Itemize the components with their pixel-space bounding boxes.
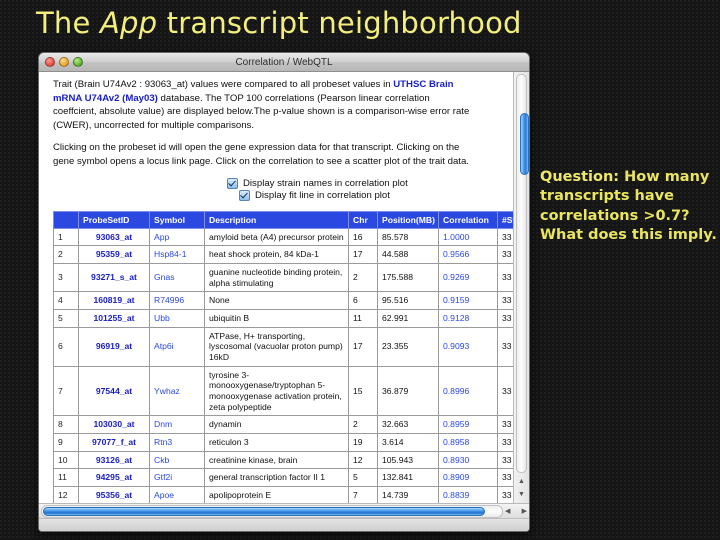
title-part-after: transcript neighborhood <box>157 6 521 40</box>
cell-description: general transcription factor II 1 <box>205 469 349 487</box>
cell-symbol: Gtf2i <box>150 469 205 487</box>
cell-probesetid: 93271_s_at <box>79 263 150 291</box>
cell-strains: 33 <box>498 327 514 366</box>
table-row: 8103030_atDnmdynamin232.6630.8959332.00e… <box>54 416 514 434</box>
probeset-link[interactable]: 97077_f_at <box>92 437 136 447</box>
cell-chr: 2 <box>349 416 378 434</box>
cell-strains: 33 <box>498 246 514 264</box>
intro-text-a: Trait (Brain U74Av2 : 93063_at) values w… <box>53 79 393 90</box>
cell-strains: 33 <box>498 486 514 503</box>
table-row: 295359_atHsp84-1heat shock protein, 84 k… <box>54 246 514 264</box>
checkbox-checked-icon[interactable] <box>227 178 238 189</box>
window-controls <box>45 57 83 67</box>
display-options: Display strain names in correlation plot… <box>53 178 503 201</box>
page-content: Trait (Brain U74Av2 : 93063_at) values w… <box>39 72 513 503</box>
table-row: 1194295_atGtf2igeneral transcription fac… <box>54 469 514 487</box>
cell-description: ATPase, H+ transporting, lyscosomal (vac… <box>205 327 349 366</box>
column-header-position[interactable]: Position(MB) <box>378 211 439 228</box>
cell-chr: 15 <box>349 366 378 416</box>
table-row: 193063_atAppamyloid beta (A4) precursor … <box>54 228 514 246</box>
cell-correlation: 0.8959 <box>439 416 498 434</box>
cell-probesetid: 94295_at <box>79 469 150 487</box>
cell-index: 9 <box>54 433 79 451</box>
intro-paragraph: Trait (Brain U74Av2 : 93063_at) values w… <box>53 78 473 132</box>
close-icon[interactable] <box>45 57 55 67</box>
cell-position: 3.614 <box>378 433 439 451</box>
browser-window: Correlation / WebQTL Trait (Brain U74Av2… <box>38 52 530 532</box>
cell-strains: 33 <box>498 416 514 434</box>
table-header-row: ProbeSetID Symbol Description Chr Positi… <box>54 211 514 228</box>
symbol-link[interactable]: Ckb <box>154 455 169 465</box>
cell-probesetid: 97544_at <box>79 366 150 416</box>
vertical-scroll-thumb[interactable] <box>520 113 529 175</box>
scroll-down-icon[interactable]: ▼ <box>518 491 525 498</box>
probeset-link[interactable]: 94295_at <box>96 472 132 482</box>
cell-strains: 33 <box>498 451 514 469</box>
cell-correlation: 0.8958 <box>439 433 498 451</box>
cell-position: 62.991 <box>378 309 439 327</box>
symbol-link[interactable]: Dnm <box>154 419 172 429</box>
cell-strains: 33 <box>498 228 514 246</box>
cell-correlation: 0.9093 <box>439 327 498 366</box>
question-callout: Question: How many transcripts have corr… <box>540 168 718 245</box>
probeset-link[interactable]: 101255_at <box>93 313 134 323</box>
symbol-link[interactable]: Ywhaz <box>154 386 180 396</box>
cell-index: 8 <box>54 416 79 434</box>
table-body: 193063_atAppamyloid beta (A4) precursor … <box>54 228 514 503</box>
question-label: Question: <box>540 169 619 185</box>
cell-position: 95.516 <box>378 292 439 310</box>
cell-probesetid: 160819_at <box>79 292 150 310</box>
checkbox-strain-names[interactable]: Display strain names in correlation plot <box>227 178 503 189</box>
cell-description: creatinine kinase, brain <box>205 451 349 469</box>
cell-position: 105.943 <box>378 451 439 469</box>
column-header-description[interactable]: Description <box>205 211 349 228</box>
cell-description: None <box>205 292 349 310</box>
horizontal-scroll-buttons: ◀ ▶ <box>505 507 527 515</box>
cell-index: 10 <box>54 451 79 469</box>
correlation-link[interactable]: 0.8930 <box>443 455 469 465</box>
cell-description: reticulon 3 <box>205 433 349 451</box>
cell-correlation: 0.9128 <box>439 309 498 327</box>
cell-description: heat shock protein, 84 kDa-1 <box>205 246 349 264</box>
scroll-left-icon[interactable]: ◀ <box>505 507 510 515</box>
symbol-link[interactable]: Apoe <box>154 490 174 500</box>
cell-strains: 33 <box>498 309 514 327</box>
cell-index: 7 <box>54 366 79 416</box>
cell-chr: 7 <box>349 486 378 503</box>
column-header-chr[interactable]: Chr <box>349 211 378 228</box>
cell-symbol: Ckb <box>150 451 205 469</box>
correlation-link[interactable]: 0.9269 <box>443 272 469 282</box>
cell-position: 85.578 <box>378 228 439 246</box>
vertical-scroll-buttons: ▲ ▼ <box>515 475 528 501</box>
cell-position: 14.739 <box>378 486 439 503</box>
symbol-link[interactable]: Gnas <box>154 272 175 282</box>
correlation-link[interactable]: 0.8909 <box>443 472 469 482</box>
correlation-link[interactable]: 0.8958 <box>443 437 469 447</box>
window-footer <box>39 518 529 531</box>
cell-probesetid: 95356_at <box>79 486 150 503</box>
cell-symbol: Apoe <box>150 486 205 503</box>
cell-correlation: 1.0000 <box>439 228 498 246</box>
cell-correlation: 0.9159 <box>439 292 498 310</box>
cell-index: 2 <box>54 246 79 264</box>
cell-description: amyloid beta (A4) precursor protein <box>205 228 349 246</box>
symbol-link[interactable]: Hsp84-1 <box>154 249 186 259</box>
column-header-strains[interactable]: #Strains <box>498 211 514 228</box>
horizontal-scroll-thumb[interactable] <box>43 507 485 516</box>
cell-chr: 16 <box>349 228 378 246</box>
cell-correlation: 0.9566 <box>439 246 498 264</box>
probeset-link[interactable]: 95359_at <box>96 249 132 259</box>
cell-description: ubiquitin B <box>205 309 349 327</box>
cell-symbol: R74996 <box>150 292 205 310</box>
table-row: 5101255_atUbbubiquitin B1162.9910.912833… <box>54 309 514 327</box>
page-title: The App transcript neighborhood <box>36 6 596 40</box>
cell-symbol: Ubb <box>150 309 205 327</box>
zoom-icon[interactable] <box>73 57 83 67</box>
cell-chr: 19 <box>349 433 378 451</box>
cell-symbol: Gnas <box>150 263 205 291</box>
cell-index: 12 <box>54 486 79 503</box>
table-row: 393271_s_atGnasguanine nucleotide bindin… <box>54 263 514 291</box>
cell-symbol: Ywhaz <box>150 366 205 416</box>
probeset-link[interactable]: 93271_s_at <box>91 272 137 282</box>
cell-symbol: Rtn3 <box>150 433 205 451</box>
cell-chr: 17 <box>349 327 378 366</box>
correlation-link[interactable]: 0.9128 <box>443 313 469 323</box>
cell-chr: 17 <box>349 246 378 264</box>
cell-strains: 33 <box>498 469 514 487</box>
cell-index: 11 <box>54 469 79 487</box>
symbol-link[interactable]: R74996 <box>154 295 184 305</box>
vertical-scrollbar[interactable]: ▲ ▼ <box>513 72 529 503</box>
table-row: 4160819_atR74996None695.5160.9159330.00e… <box>54 292 514 310</box>
table-row: 997077_f_atRtn3reticulon 3193.6140.89583… <box>54 433 514 451</box>
scroll-up-icon[interactable]: ▲ <box>518 478 525 485</box>
cell-description: guanine nucleotide binding protein, alph… <box>205 263 349 291</box>
cell-strains: 33 <box>498 292 514 310</box>
checkbox-strain-names-label: Display strain names in correlation plot <box>243 178 408 189</box>
window-body: Trait (Brain U74Av2 : 93063_at) values w… <box>39 72 529 531</box>
cell-probesetid: 103030_at <box>79 416 150 434</box>
cell-probesetid: 93126_at <box>79 451 150 469</box>
cell-position: 32.663 <box>378 416 439 434</box>
cell-correlation: 0.8909 <box>439 469 498 487</box>
cell-position: 36.879 <box>378 366 439 416</box>
symbol-link[interactable]: Ubb <box>154 313 170 323</box>
horizontal-scroll-track[interactable] <box>41 505 503 518</box>
cell-correlation: 0.8996 <box>439 366 498 416</box>
table-row: 1295356_atApoeapolipoprotein E714.7390.8… <box>54 486 514 503</box>
probeset-link[interactable]: 160819_at <box>93 295 134 305</box>
checkbox-fit-line[interactable]: Display fit line in correlation plot <box>239 190 503 201</box>
table-header: ProbeSetID Symbol Description Chr Positi… <box>54 211 514 228</box>
symbol-link[interactable]: Atp6i <box>154 341 174 351</box>
cell-strains: 33 <box>498 263 514 291</box>
correlation-link[interactable]: 0.9159 <box>443 295 469 305</box>
probeset-link[interactable]: 96919_at <box>96 341 132 351</box>
cell-strains: 33 <box>498 366 514 416</box>
cell-chr: 2 <box>349 263 378 291</box>
column-header-index[interactable] <box>54 211 79 228</box>
cell-chr: 5 <box>349 469 378 487</box>
scroll-right-icon[interactable]: ▶ <box>522 507 527 515</box>
cell-probesetid: 95359_at <box>79 246 150 264</box>
probeset-link[interactable]: 93063_at <box>96 232 132 242</box>
window-titlebar[interactable]: Correlation / WebQTL <box>39 53 529 72</box>
symbol-link[interactable]: Gtf2i <box>154 472 172 482</box>
correlation-link[interactable]: 0.8959 <box>443 419 469 429</box>
cell-position: 175.588 <box>378 263 439 291</box>
cell-description: dynamin <box>205 416 349 434</box>
cell-index: 5 <box>54 309 79 327</box>
cell-chr: 6 <box>349 292 378 310</box>
window-title: Correlation / WebQTL <box>39 57 529 68</box>
cell-symbol: Atp6i <box>150 327 205 366</box>
cell-symbol: Hsp84-1 <box>150 246 205 264</box>
minimize-icon[interactable] <box>59 57 69 67</box>
cell-probesetid: 97077_f_at <box>79 433 150 451</box>
correlation-link[interactable]: 0.9093 <box>443 341 469 351</box>
title-gene-name: App <box>100 6 157 40</box>
title-part-before: The <box>36 6 100 40</box>
cell-index: 6 <box>54 327 79 366</box>
instructions-paragraph: Clicking on the probeset id will open th… <box>53 141 473 168</box>
cell-position: 132.841 <box>378 469 439 487</box>
checkbox-fit-line-label: Display fit line in correlation plot <box>255 190 390 201</box>
table-row: 797544_atYwhaztyrosine 3-monooxygenase/t… <box>54 366 514 416</box>
vertical-scroll-track[interactable] <box>516 74 527 473</box>
correlation-link[interactable]: 0.8839 <box>443 490 469 500</box>
table-row: 1093126_atCkbcreatinine kinase, brain121… <box>54 451 514 469</box>
column-header-symbol[interactable]: Symbol <box>150 211 205 228</box>
correlation-link[interactable]: 1.0000 <box>443 232 469 242</box>
probeset-link[interactable]: 93126_at <box>96 455 132 465</box>
cell-probesetid: 96919_at <box>79 327 150 366</box>
cell-symbol: Dnm <box>150 416 205 434</box>
table-row: 696919_atAtp6iATPase, H+ transporting, l… <box>54 327 514 366</box>
cell-symbol: App <box>150 228 205 246</box>
cell-correlation: 0.8839 <box>439 486 498 503</box>
probeset-link[interactable]: 103030_at <box>93 419 134 429</box>
cell-description: apolipoprotein E <box>205 486 349 503</box>
cell-correlation: 0.8930 <box>439 451 498 469</box>
column-header-probesetid[interactable]: ProbeSetID <box>79 211 150 228</box>
correlation-link[interactable]: 0.8996 <box>443 386 469 396</box>
checkbox-checked-icon[interactable] <box>239 190 250 201</box>
cell-position: 44.588 <box>378 246 439 264</box>
horizontal-scrollbar[interactable]: ◀ ▶ <box>39 503 529 518</box>
cell-correlation: 0.9269 <box>439 263 498 291</box>
correlation-table: ProbeSetID Symbol Description Chr Positi… <box>53 211 513 503</box>
cell-strains: 33 <box>498 433 514 451</box>
cell-index: 3 <box>54 263 79 291</box>
cell-description: tyrosine 3-monooxygenase/tryptophan 5-mo… <box>205 366 349 416</box>
symbol-link[interactable]: App <box>154 232 169 242</box>
correlation-link[interactable]: 0.9566 <box>443 249 469 259</box>
cell-chr: 12 <box>349 451 378 469</box>
cell-position: 23.355 <box>378 327 439 366</box>
cell-index: 1 <box>54 228 79 246</box>
cell-index: 4 <box>54 292 79 310</box>
probeset-link[interactable]: 97544_at <box>96 386 132 396</box>
column-header-correlation[interactable]: Correlation <box>439 211 498 228</box>
content-row: Trait (Brain U74Av2 : 93063_at) values w… <box>39 72 529 503</box>
symbol-link[interactable]: Rtn3 <box>154 437 172 447</box>
cell-probesetid: 101255_at <box>79 309 150 327</box>
cell-chr: 11 <box>349 309 378 327</box>
cell-probesetid: 93063_at <box>79 228 150 246</box>
probeset-link[interactable]: 95356_at <box>96 490 132 500</box>
